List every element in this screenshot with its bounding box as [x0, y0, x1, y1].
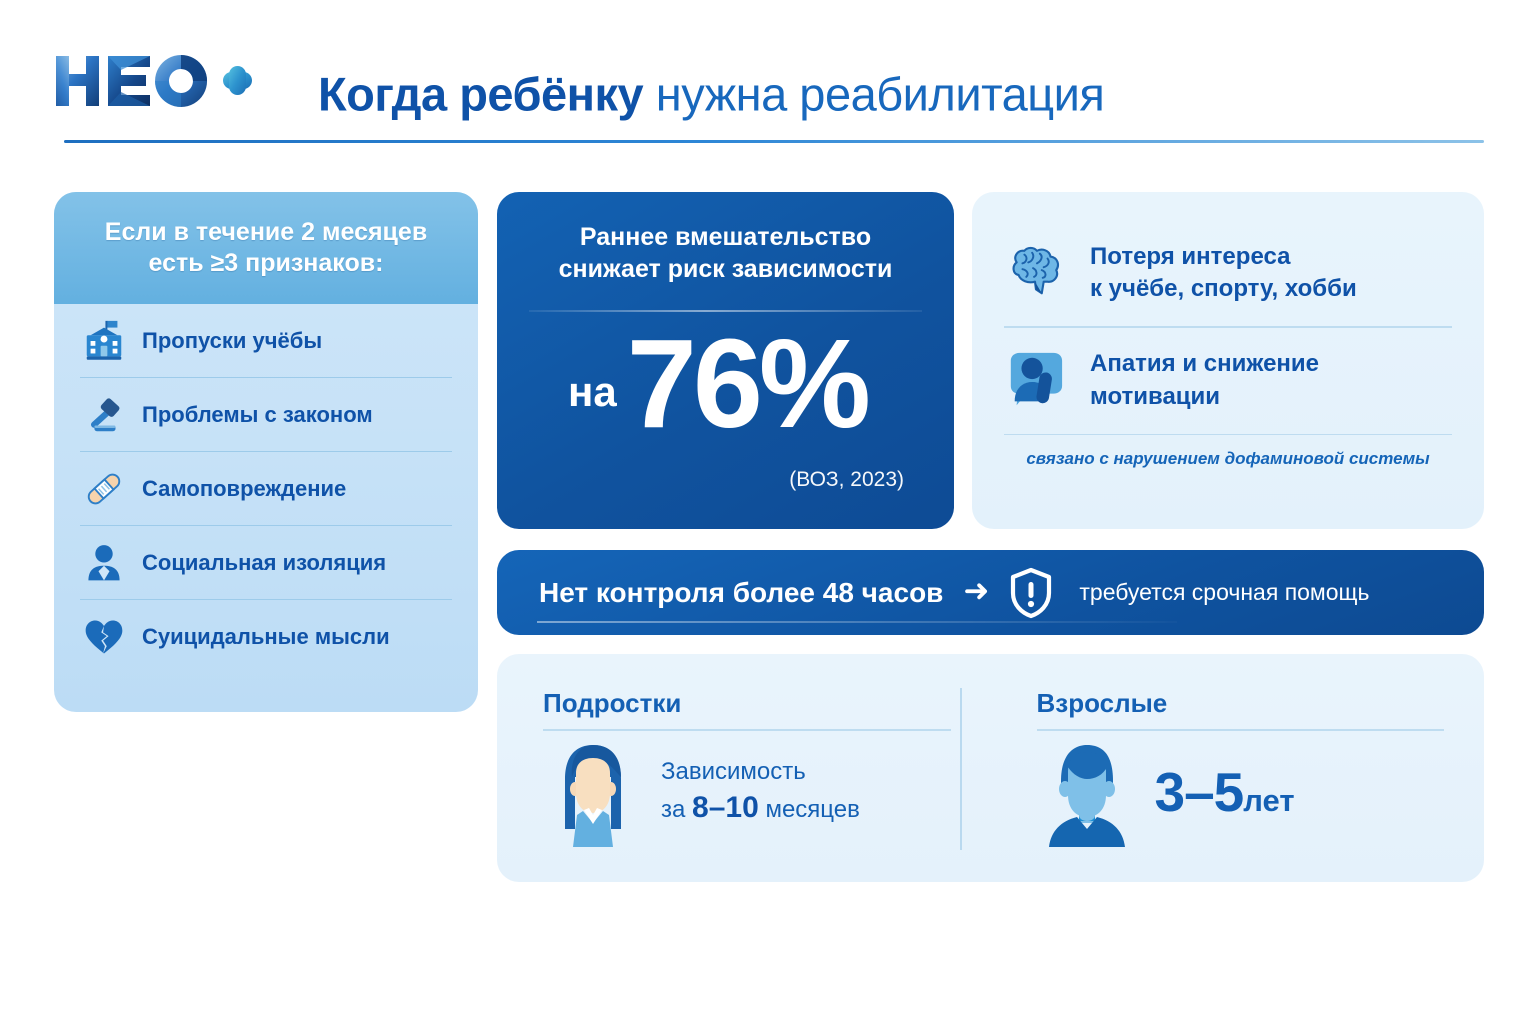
list-item[interactable]: Потеря интереса к учёбе, спорту, хобби	[1002, 220, 1454, 326]
alert-sheen	[537, 621, 1177, 623]
sign-label: Суицидальные мысли	[142, 624, 390, 650]
symptoms-panel: Потеря интереса к учёбе, спорту, хобби А…	[972, 192, 1484, 529]
age-comparison-panel: Подростки Зависимость за	[497, 654, 1484, 882]
adults-title: Взрослые	[1037, 688, 1445, 719]
statistic-title-line2: снижает риск зависимости	[519, 254, 932, 286]
brain-icon	[1002, 242, 1068, 304]
page-title: Когда ребёнку нужна реабилитация	[318, 67, 1104, 122]
teens-lead: Зависимость	[661, 758, 806, 785]
arrow-right-icon: ➜	[959, 575, 993, 610]
symptom-line1: Потеря интереса	[1090, 243, 1290, 270]
broken-heart-icon	[80, 613, 128, 661]
teen-girl-avatar	[543, 737, 643, 847]
apathy-person-icon	[1002, 350, 1068, 412]
statistic-divider	[529, 310, 922, 312]
adults-divider	[1037, 729, 1445, 731]
person-icon	[80, 539, 128, 587]
shield-alert-icon	[1009, 567, 1053, 619]
adults-unit: лет	[1243, 783, 1294, 818]
symptom-label: Апатия и снижение мотивации	[1090, 348, 1319, 412]
adults-column: Взрослые 3–5лет	[991, 654, 1485, 882]
teens-unit: месяцев	[765, 796, 859, 823]
list-item[interactable]: Социальная изоляция	[80, 526, 452, 600]
warning-signs-panel: Если в течение 2 месяцев есть ≥3 признак…	[54, 192, 478, 712]
statistic-title-line1: Раннее вмешательство	[519, 222, 932, 254]
school-icon	[80, 317, 128, 365]
statistic-value: 76%	[627, 326, 867, 442]
sign-label: Проблемы с законом	[142, 402, 373, 428]
infographic-root: HEO+ Когда ребёнку нужна реабилитация Ес…	[0, 0, 1536, 1024]
teens-prefix: за	[661, 796, 685, 823]
gavel-icon	[80, 391, 128, 439]
symptom-line2: к учёбе, спорту, хобби	[1090, 275, 1357, 302]
adults-text: 3–5лет	[1155, 760, 1295, 824]
adults-duration: 3–5	[1155, 761, 1244, 823]
list-item[interactable]: Апатия и снижение мотивации	[1002, 328, 1454, 434]
warning-signs-header-line1: Если в течение 2 месяцев	[105, 217, 427, 248]
teens-divider	[543, 729, 951, 731]
sign-label: Социальная изоляция	[142, 550, 386, 576]
warning-signs-header: Если в течение 2 месяцев есть ≥3 признак…	[54, 192, 478, 304]
statistic-source: (ВОЗ, 2023)	[789, 468, 904, 492]
bandage-icon	[80, 465, 128, 513]
statistic-title: Раннее вмешательство снижает риск зависи…	[497, 222, 954, 285]
list-item[interactable]: Суицидальные мысли	[80, 600, 452, 674]
alert-main-text: Нет контроля более 48 часов	[539, 577, 943, 609]
teens-text: Зависимость за 8–10 месяцев	[661, 756, 860, 826]
page-title-bold: Когда ребёнку	[318, 68, 643, 121]
sign-label: Самоповреждение	[142, 476, 346, 502]
page-header: HEO+ Когда ребёнку нужна реабилитация	[52, 44, 1484, 154]
statistic-prefix: на	[568, 368, 617, 442]
neo-plus-logo: HEO+	[52, 50, 252, 112]
warning-signs-header-line2: есть ≥3 признаков:	[105, 248, 427, 279]
statistic-figure: на 76%	[497, 326, 954, 442]
symptom-line2: мотивации	[1090, 383, 1220, 410]
teens-duration: 8–10	[692, 791, 759, 824]
statistic-panel: Раннее вмешательство снижает риск зависи…	[497, 192, 954, 529]
alert-tail-text: требуется срочная помощь	[1069, 579, 1369, 606]
list-item[interactable]: Проблемы с законом	[80, 378, 452, 452]
list-item[interactable]: Пропуски учёбы	[80, 304, 452, 378]
symptom-label: Потеря интереса к учёбе, спорту, хобби	[1090, 241, 1357, 305]
teens-column: Подростки Зависимость за	[497, 654, 991, 882]
symptom-note: связано с нарушением дофаминовой системы	[1002, 435, 1454, 469]
adult-man-avatar	[1037, 737, 1137, 847]
symptom-line1: Апатия и снижение	[1090, 350, 1319, 377]
list-item[interactable]: Самоповреждение	[80, 452, 452, 526]
warning-signs-list: Пропуски учёбы Проблемы с законом	[54, 304, 478, 674]
page-title-light: нужна реабилитация	[656, 68, 1105, 121]
teens-title: Подростки	[543, 688, 951, 719]
urgent-alert-bar: Нет контроля более 48 часов ➜ требуется …	[497, 550, 1484, 635]
comparison-divider	[960, 688, 962, 850]
header-divider	[64, 140, 1484, 143]
sign-label: Пропуски учёбы	[142, 328, 322, 354]
